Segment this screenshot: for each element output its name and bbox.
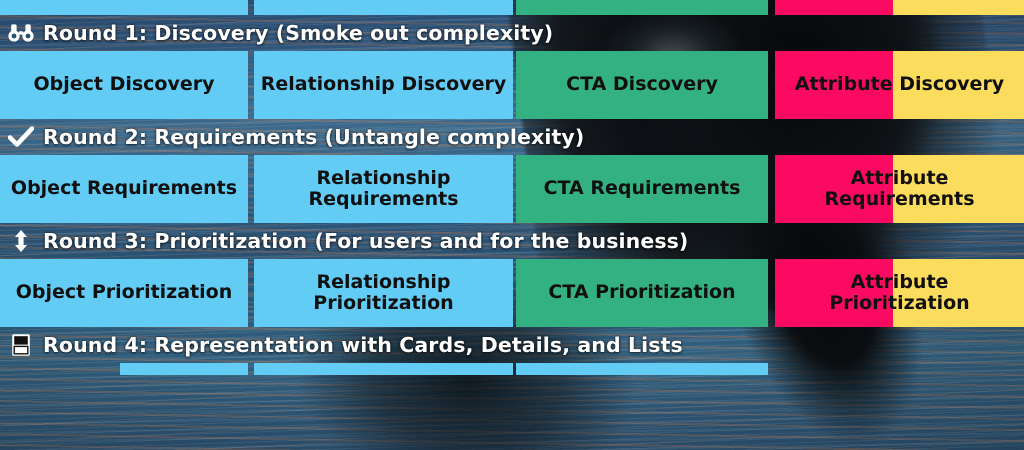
round-1: Round 1: Discovery (Smoke out complexity… [0, 15, 1024, 119]
cell-gap [768, 259, 775, 327]
up-down-arrow-icon [8, 228, 34, 254]
card-layout-icon [8, 332, 34, 358]
cell-label: Object Discovery [33, 74, 214, 95]
round-4-header: Round 4: Representation with Cards, Deta… [0, 327, 1024, 363]
round-3-header: Round 3: Prioritization (For users and f… [0, 223, 1024, 259]
cell-gap [768, 0, 775, 15]
clipped-cell-object-r4[interactable] [120, 363, 248, 375]
round-1-header: Round 1: Discovery (Smoke out complexity… [0, 15, 1024, 51]
cell-attribute-requirements[interactable]: Attribute Requirements [775, 155, 1024, 223]
round-3-cells: Object Prioritization Relationship Prior… [0, 259, 1024, 327]
clipped-cell-relationship[interactable] [254, 0, 513, 15]
previous-round-cells-clipped [0, 0, 1024, 15]
round-3: Round 3: Prioritization (For users and f… [0, 223, 1024, 327]
cell-label: Relationship Discovery [261, 74, 507, 95]
cell-label: Attribute Prioritization [829, 272, 969, 315]
round-2: Round 2: Requirements (Untangle complexi… [0, 119, 1024, 223]
clipped-cell-object[interactable] [0, 0, 248, 15]
checkmark-icon [8, 124, 34, 150]
clipped-cell-attribute[interactable] [775, 0, 1024, 15]
cell-gap [768, 155, 775, 223]
round-3-title: Round 3: Prioritization (For users and f… [43, 229, 688, 253]
round-2-cells: Object Requirements Relationship Require… [0, 155, 1024, 223]
cell-relationship-discovery[interactable]: Relationship Discovery [254, 51, 513, 119]
clipped-cell-cta[interactable] [516, 0, 768, 15]
round-4: Round 4: Representation with Cards, Deta… [0, 327, 1024, 363]
cell-label: CTA Prioritization [548, 282, 735, 303]
cell-object-requirements[interactable]: Object Requirements [0, 155, 248, 223]
cell-label: CTA Requirements [544, 178, 741, 199]
cell-label: Attribute Requirements [824, 168, 974, 211]
cell-label: Object Requirements [11, 178, 237, 199]
cell-object-discovery[interactable]: Object Discovery [0, 51, 248, 119]
round-2-title: Round 2: Requirements (Untangle complexi… [43, 125, 584, 149]
binoculars-icon [8, 20, 34, 46]
clipped-cell-relationship-r4[interactable] [254, 363, 513, 375]
cell-label: Attribute Discovery [795, 74, 1004, 95]
cell-attribute-prioritization[interactable]: Attribute Prioritization [775, 259, 1024, 327]
cell-label: CTA Discovery [566, 74, 718, 95]
round-1-cells: Object Discovery Relationship Discovery … [0, 51, 1024, 119]
cell-label: Object Prioritization [16, 282, 233, 303]
cell-cta-requirements[interactable]: CTA Requirements [516, 155, 768, 223]
round-4-cells-clipped [0, 363, 1024, 375]
cell-cta-prioritization[interactable]: CTA Prioritization [516, 259, 768, 327]
round-2-header: Round 2: Requirements (Untangle complexi… [0, 119, 1024, 155]
cell-label: Relationship Prioritization [313, 272, 453, 315]
cell-cta-discovery[interactable]: CTA Discovery [516, 51, 768, 119]
cell-attribute-discovery[interactable]: Attribute Discovery [775, 51, 1024, 119]
clipped-cell-cta-r4[interactable] [516, 363, 768, 375]
cell-label: Relationship Requirements [308, 168, 458, 211]
rounds-container: Round 1: Discovery (Smoke out complexity… [0, 15, 1024, 363]
round-1-title: Round 1: Discovery (Smoke out complexity… [43, 21, 553, 45]
cell-relationship-prioritization[interactable]: Relationship Prioritization [254, 259, 513, 327]
cell-gap [768, 51, 775, 119]
cell-relationship-requirements[interactable]: Relationship Requirements [254, 155, 513, 223]
cell-object-prioritization[interactable]: Object Prioritization [0, 259, 248, 327]
round-4-title: Round 4: Representation with Cards, Deta… [43, 333, 683, 357]
